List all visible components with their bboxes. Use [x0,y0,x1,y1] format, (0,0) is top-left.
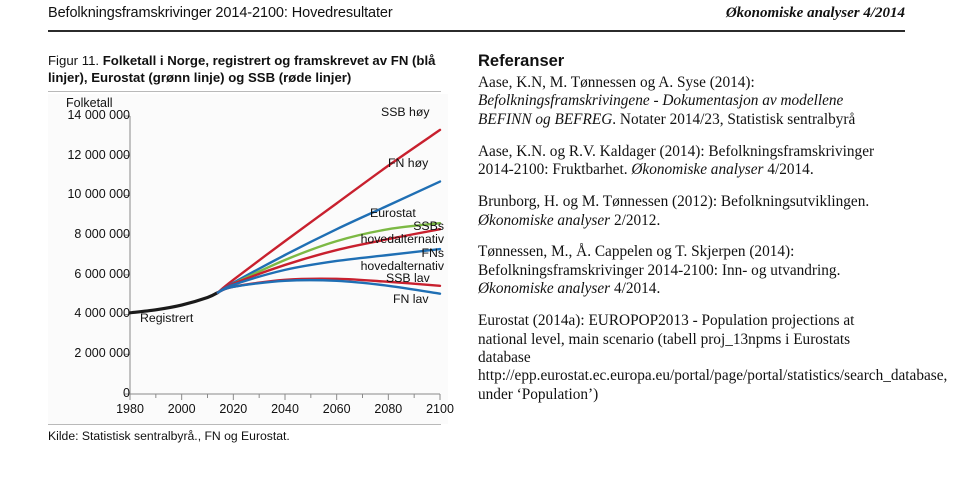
y-tick-label: 4 000 000 [74,306,130,320]
y-tick-label: 10 000 000 [67,187,130,201]
reference-entry: Tønnessen, M., Å. Cappelen og T. Skjerpe… [478,243,898,298]
figure-title: Folketall i Norge, registrert og framskr… [48,53,435,85]
figure-caption: Figur 11. Folketall i Norge, registrert … [48,52,438,87]
reference-title-italic: Økonomiske analyser [478,212,610,229]
y-tick-label: 12 000 000 [67,148,130,162]
x-tick-label: 2040 [271,402,299,416]
x-tick-label: 2100 [426,402,454,416]
reference-text: 4/2014. [610,280,660,297]
caption-divider [48,91,441,92]
y-tick-label: 8 000 000 [74,227,130,241]
running-head-right: Økonomiske analyser 4/2014 [726,5,905,22]
reference-entry: Eurostat (2014a): EUROPOP2013 - Populati… [478,312,898,404]
series-label: FN lav [393,293,429,306]
x-tick-label: 2080 [374,402,402,416]
reference-text: Tønnessen, M., Å. Cappelen og T. Skjerpe… [478,243,840,278]
series-label: Registrert [140,312,193,325]
x-tick-label: 2060 [323,402,351,416]
header-divider [48,30,905,32]
series-label: SSBs hovedalternativ [336,220,444,247]
series-label: FN høy [388,157,428,170]
reference-text: 2/2012. [610,212,660,229]
references-list: Aase, K.N, M. Tønnessen og A. Syse (2014… [478,74,898,404]
reference-entry: Brunborg, H. og M. Tønnessen (2012): Bef… [478,193,898,230]
x-tick-label: 1980 [116,402,144,416]
reference-text: Eurostat (2014a): EUROPOP2013 - Populati… [478,312,947,403]
reference-entry: Aase, K.N, M. Tønnessen og A. Syse (2014… [478,74,898,129]
y-tick-label: 14 000 000 [67,108,130,122]
figure-source: Kilde: Statistisk sentralbyrå., FN og Eu… [48,429,448,443]
series-label: FNs hovedalternativ [336,247,444,274]
running-head-left: Befolkningsframskrivinger 2014-2100: Hov… [48,5,393,21]
source-divider [48,424,441,425]
series-label: SSB lav [386,272,430,285]
reference-title-italic: Økonomiske analyser [478,280,610,297]
y-tick-label: 2 000 000 [74,346,130,360]
reference-text: . Notater 2014/23, Statistisk sentralbyr… [612,111,855,128]
figure-column: Figur 11. Folketall i Norge, registrert … [48,52,448,443]
references-heading: Referanser [478,52,898,71]
x-tick-label: 2000 [168,402,196,416]
references-column: Referanser Aase, K.N, M. Tønnessen og A.… [478,52,898,418]
reference-text: Brunborg, H. og M. Tønnessen (2012): Bef… [478,193,869,210]
reference-entry: Aase, K.N. og R.V. Kaldager (2014): Befo… [478,143,898,180]
reference-title-italic: Økonomiske analyser [631,161,763,178]
y-tick-label: 6 000 000 [74,267,130,281]
reference-text: 4/2014. [764,161,814,178]
reference-text: Aase, K.N, M. Tønnessen og A. Syse (2014… [478,74,755,91]
page-header: Befolkningsframskrivinger 2014-2100: Hov… [48,0,905,34]
x-tick-label: 2020 [219,402,247,416]
population-projection-chart: Folketall 02 000 0004 000 0006 000 0008 … [48,94,448,424]
series-label: Eurostat [370,207,416,220]
figure-number: Figur 11. [48,53,99,68]
y-tick-label: 0 [123,386,130,400]
series-line [130,292,218,312]
series-label: SSB høy [381,106,430,119]
